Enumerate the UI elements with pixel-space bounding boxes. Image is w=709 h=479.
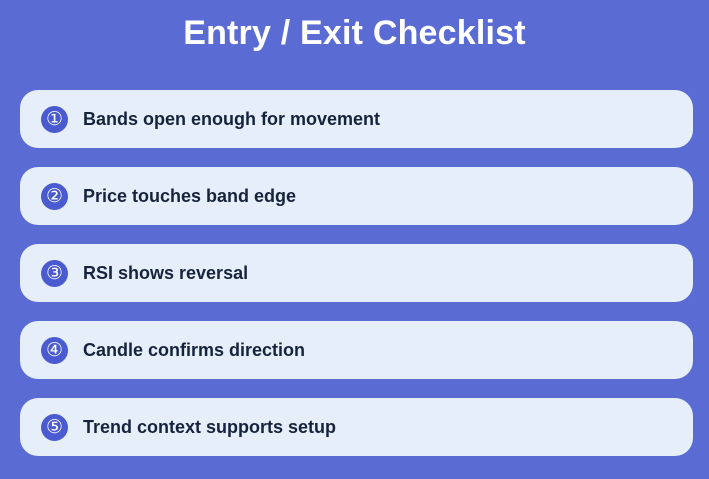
number-1-icon: ① (41, 106, 68, 133)
checklist-item-1[interactable]: ① Bands open enough for movement (20, 90, 693, 148)
checklist-item-label: Candle confirms direction (83, 339, 693, 361)
checklist-item-3[interactable]: ③ RSI shows reversal (20, 244, 693, 302)
checklist-item-label: RSI shows reversal (83, 262, 693, 284)
number-2-icon: ② (41, 183, 68, 210)
number-4-icon: ④ (41, 337, 68, 364)
checklist-item-label: Bands open enough for movement (83, 108, 693, 130)
checklist-item-4[interactable]: ④ Candle confirms direction (20, 321, 693, 379)
page-title: Entry / Exit Checklist (0, 12, 709, 54)
checklist-item-2[interactable]: ② Price touches band edge (20, 167, 693, 225)
number-5-icon: ⑤ (41, 414, 68, 441)
number-3-icon: ③ (41, 260, 68, 287)
checklist-item-label: Price touches band edge (83, 185, 693, 207)
checklist-screen: Entry / Exit Checklist ① Bands open enou… (0, 0, 709, 479)
checklist: ① Bands open enough for movement ② Price… (20, 90, 693, 456)
checklist-item-label: Trend context supports setup (83, 416, 693, 438)
checklist-item-5[interactable]: ⑤ Trend context supports setup (20, 398, 693, 456)
